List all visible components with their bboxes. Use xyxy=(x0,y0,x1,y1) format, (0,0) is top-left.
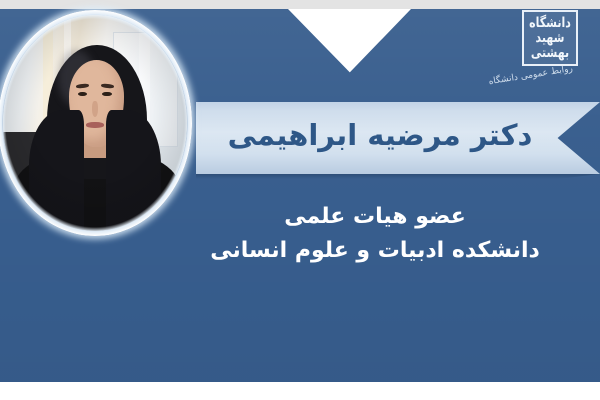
seal-line-3: بهشتی xyxy=(529,46,571,61)
seal-line-2: شهید xyxy=(529,31,571,46)
portrait-image xyxy=(3,15,187,231)
subtitle-block: عضو هیات علمی دانشکده ادبیات و علوم انسا… xyxy=(170,200,580,268)
university-logo: دانشگاه شهید بهشتی روابط عمومی دانشگاه xyxy=(474,8,578,94)
page-title: دکتر مرضیه ابراهیمی xyxy=(206,118,591,158)
subtitle-role: عضو هیات علمی xyxy=(170,200,580,234)
name-ribbon-banner: دکتر مرضیه ابراهیمی xyxy=(196,102,600,174)
seal-line-1: دانشگاه xyxy=(529,16,571,31)
university-seal-label: دانشگاه شهید بهشتی xyxy=(529,16,571,61)
announcement-card: دکتر مرضیه ابراهیمی عضو هیات علمی دانشکد… xyxy=(0,0,600,400)
subtitle-faculty: دانشکده ادبیات و علوم انسانی xyxy=(170,234,580,268)
university-seal-icon: دانشگاه شهید بهشتی xyxy=(522,10,578,66)
public-relations-label: روابط عمومی دانشگاه xyxy=(488,64,574,88)
portrait-photo xyxy=(0,10,192,236)
photo-vignette xyxy=(3,15,187,231)
